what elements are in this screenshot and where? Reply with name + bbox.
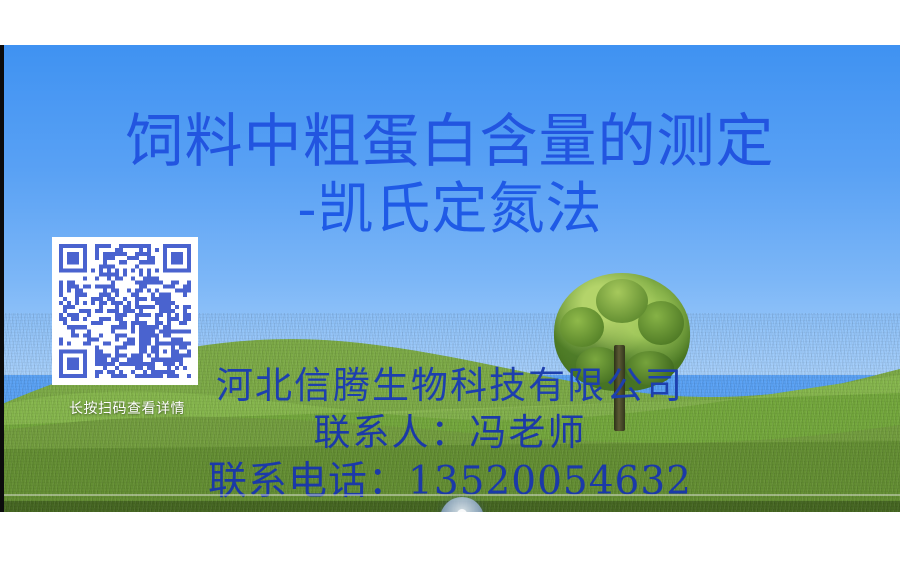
video-page: 长按扫码查看详情 饲料中粗蛋白含量的测定 -凯氏定氮法 河北信腾生物科技有限公司… bbox=[0, 0, 900, 561]
qr-code-card[interactable] bbox=[52, 237, 198, 385]
qr-code-icon[interactable] bbox=[59, 244, 191, 378]
qr-caption: 长按扫码查看详情 bbox=[52, 398, 202, 418]
video-player-stage[interactable]: 长按扫码查看详情 饲料中粗蛋白含量的测定 -凯氏定氮法 河北信腾生物科技有限公司… bbox=[0, 45, 900, 512]
video-progress-bar[interactable] bbox=[0, 494, 900, 496]
video-left-edge-bar bbox=[0, 45, 4, 512]
tree-icon bbox=[552, 273, 692, 433]
